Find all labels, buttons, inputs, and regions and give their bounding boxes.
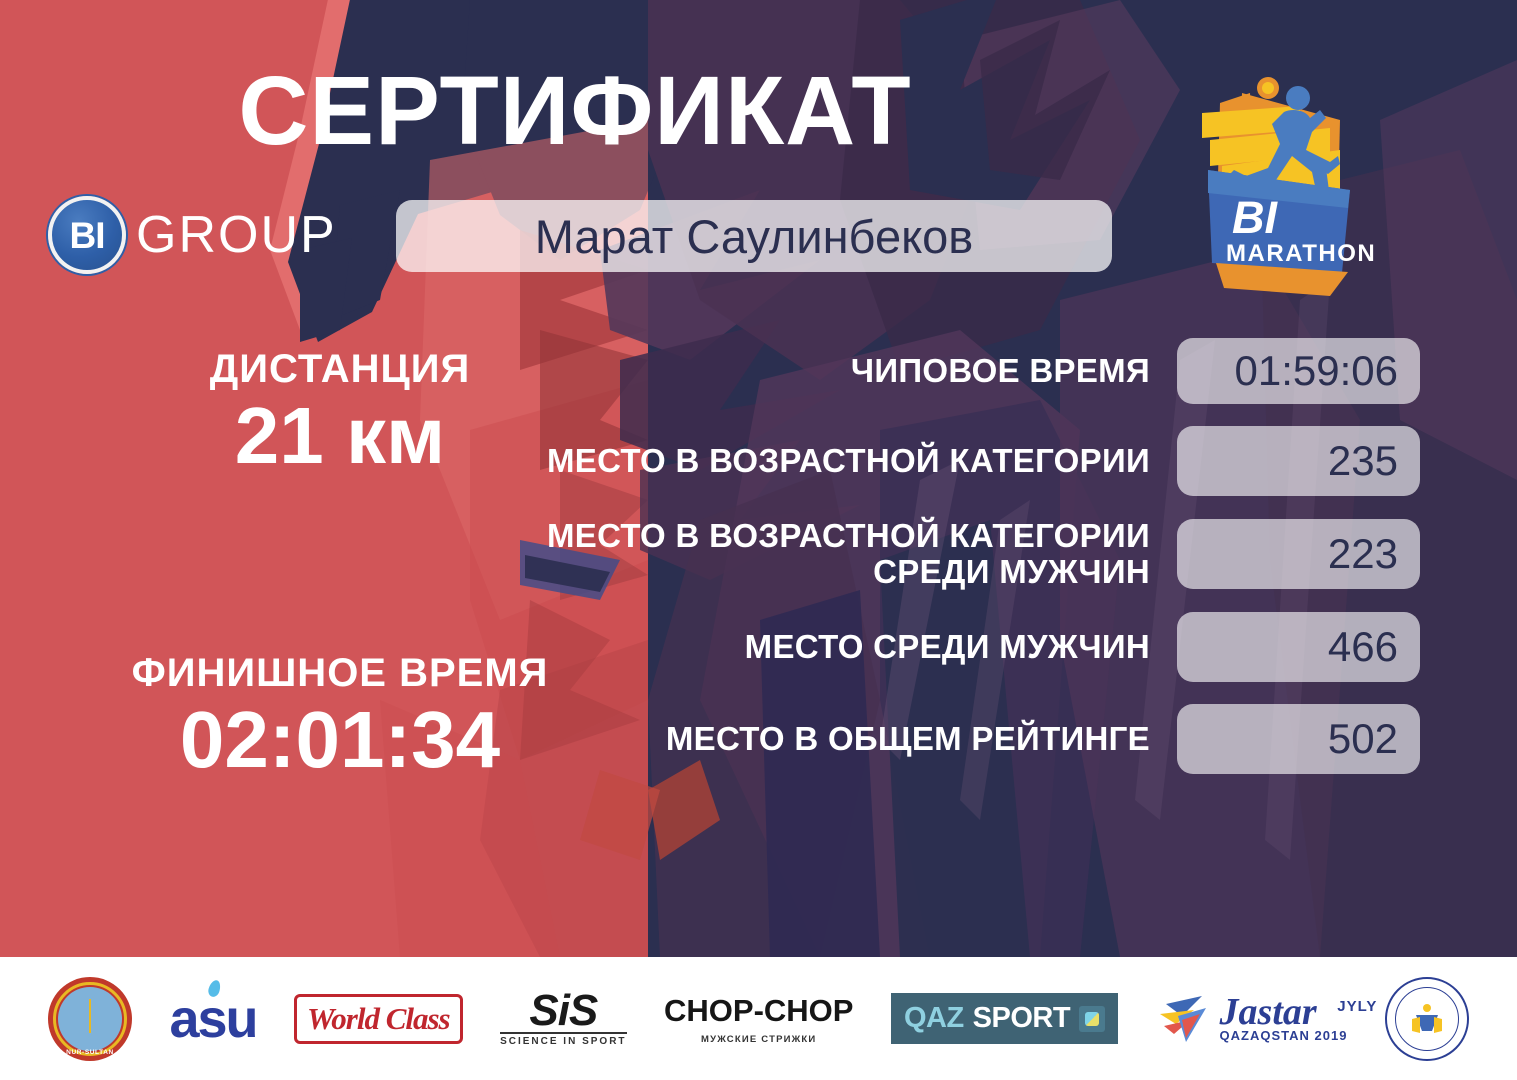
stat-row-men-place-pill: 466 — [1177, 612, 1420, 682]
stat-row-chip-time-value: 01:59:06 — [1235, 347, 1399, 395]
marathon-logo-word: MARATHON — [1226, 240, 1376, 267]
sponsor-sis-text: SiS — [500, 990, 626, 1032]
stat-row-overall-place-pill: 502 — [1177, 704, 1420, 774]
athlete-name: Марат Саулинбеков — [535, 209, 974, 264]
sponsor-asu-icon: asu — [169, 992, 256, 1046]
sponsor-jastar-text: Jastar — [1220, 994, 1348, 1030]
stat-row-chip-time-label: ЧИПОВОЕ ВРЕМЯ — [510, 353, 1177, 389]
stat-row-chip-time: ЧИПОВОЕ ВРЕМЯ 01:59:06 — [510, 338, 1420, 404]
stat-row-age-category-men-place-label: МЕСТО В ВОЗРАСТНОЙ КАТЕГОРИИ СРЕДИ МУЖЧИ… — [510, 518, 1177, 590]
bi-marathon-logo-icon: BI MARATHON — [1180, 58, 1380, 308]
qazsport-square-icon — [1079, 1006, 1105, 1032]
bi-group-word: GROUP — [136, 209, 337, 261]
sponsor-world-class-text: World Class — [294, 994, 463, 1044]
left-stat-distance-value: 21 км — [120, 391, 560, 481]
jastar-bird-icon — [1156, 990, 1214, 1048]
bi-badge-text: BI — [70, 217, 105, 254]
sponsor-asu-text: asu — [169, 989, 256, 1049]
stat-row-age-category-place-value: 235 — [1328, 437, 1398, 485]
stat-row-men-place-value: 466 — [1328, 623, 1398, 671]
sponsor-nur-sultan-text: NUR-SULTAN — [48, 1049, 132, 1056]
sponsor-chop-chop-icon: CHOP-CHOP МУЖСКИЕ СТРИЖКИ — [664, 993, 853, 1045]
sponsor-jastar-sup: JYLY — [1337, 998, 1377, 1015]
sponsor-qazsport-text-b: SPORT — [973, 1002, 1070, 1035]
stat-row-age-category-place-pill: 235 — [1177, 426, 1420, 496]
stat-row-men-place-label: МЕСТО СРЕДИ МУЖЧИН — [510, 629, 1177, 665]
stat-row-age-category-place: МЕСТО В ВОЗРАСТНОЙ КАТЕГОРИИ 235 — [510, 426, 1420, 496]
page-title: СЕРТИФИКАТ — [0, 62, 1150, 159]
sponsor-strip: NUR-SULTAN asu World Class SiS SCIENCE I… — [0, 957, 1517, 1080]
stat-row-men-place: МЕСТО СРЕДИ МУЖЧИН 466 — [510, 612, 1420, 682]
athlete-name-banner: Марат Саулинбеков — [396, 200, 1112, 272]
left-stat-finish-time: ФИНИШНОЕ ВРЕМЯ 02:01:34 — [120, 652, 560, 785]
stat-row-overall-place-value: 502 — [1328, 715, 1398, 763]
left-stat-finish-time-label: ФИНИШНОЕ ВРЕМЯ — [120, 652, 560, 695]
stat-row-age-category-men-place: МЕСТО В ВОЗРАСТНОЙ КАТЕГОРИИ СРЕДИ МУЖЧИ… — [510, 518, 1420, 590]
bi-badge-icon: BI — [48, 196, 126, 274]
sponsor-world-class-icon: World Class — [294, 994, 463, 1044]
left-stat-distance: ДИСТАНЦИЯ 21 км — [120, 348, 560, 481]
stat-row-age-category-place-label: МЕСТО В ВОЗРАСТНОЙ КАТЕГОРИИ — [510, 443, 1177, 479]
stat-row-age-category-men-place-value: 223 — [1328, 530, 1398, 578]
stat-row-age-category-men-place-pill: 223 — [1177, 519, 1420, 589]
stat-row-chip-time-pill: 01:59:06 — [1177, 338, 1420, 404]
stat-row-overall-place-label: МЕСТО В ОБЩЕМ РЕЙТИНГЕ — [510, 721, 1177, 757]
sponsor-chop-chop-subtext: МУЖСКИЕ СТРИЖКИ — [664, 1034, 853, 1045]
bi-group-logo: BI GROUP — [48, 196, 337, 274]
sponsor-sis-icon: SiS SCIENCE IN SPORT — [500, 990, 626, 1048]
stat-row-overall-place: МЕСТО В ОБЩЕМ РЕЙТИНГЕ 502 — [510, 704, 1420, 774]
sponsor-chop-chop-text: CHOP-CHOP — [664, 993, 853, 1029]
sponsor-qazsport-icon: QAZ SPORT — [891, 993, 1118, 1044]
right-stats-list: ЧИПОВОЕ ВРЕМЯ 01:59:06 МЕСТО В ВОЗРАСТНО… — [510, 338, 1420, 796]
sponsor-ministry-seal-icon — [1385, 977, 1469, 1061]
sponsor-sis-subtext: SCIENCE IN SPORT — [500, 1032, 626, 1047]
sponsor-jastar-subtext: QAZAQSTAN 2019 — [1220, 1028, 1348, 1043]
certificate-root: СЕРТИФИКАТ BI GROUP Марат Саулинбеков — [0, 0, 1517, 1080]
left-stat-distance-label: ДИСТАНЦИЯ — [120, 348, 560, 391]
marathon-logo-bi: BI — [1232, 192, 1278, 243]
sponsor-jastar-icon: Jastar JYLY QAZAQSTAN 2019 — [1156, 990, 1348, 1048]
left-stat-finish-time-value: 02:01:34 — [120, 695, 560, 785]
sponsor-qazsport-text-a: QAZ — [904, 1002, 964, 1035]
sponsor-nur-sultan-emblem-icon: NUR-SULTAN — [48, 977, 132, 1061]
